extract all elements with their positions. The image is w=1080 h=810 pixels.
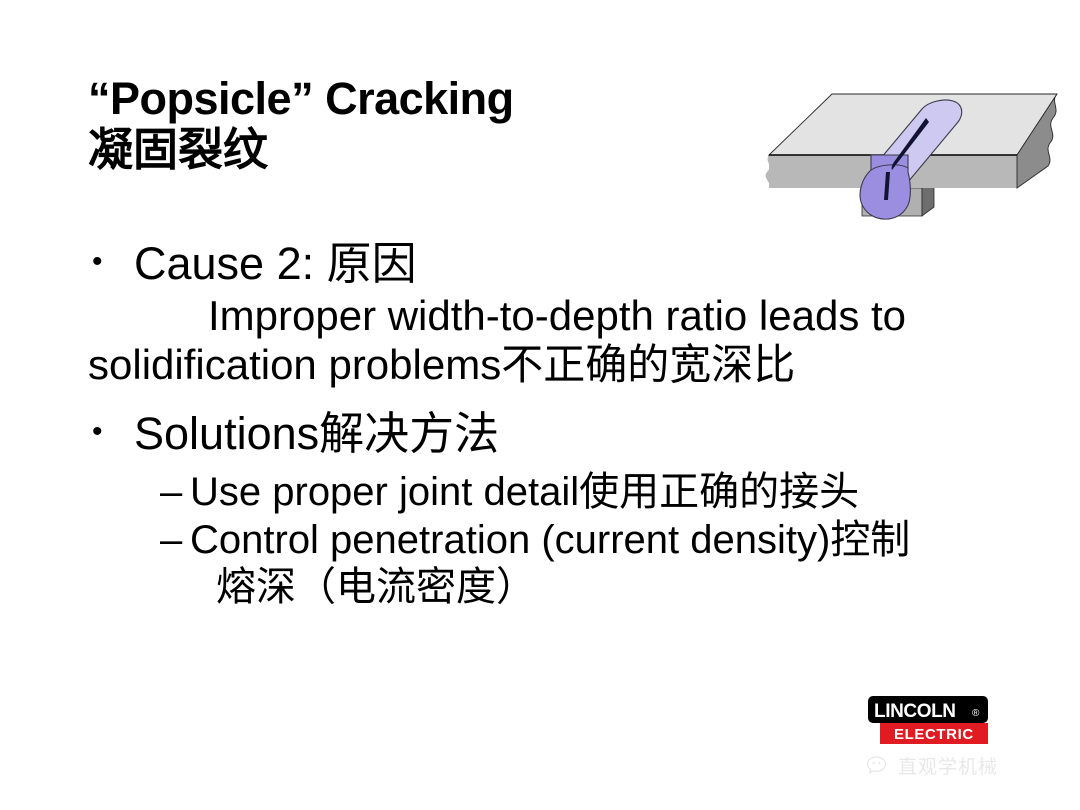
cause-detail-line2-zh: 不正确的宽深比 <box>501 340 795 389</box>
wechat-icon <box>866 755 892 777</box>
sub-bullet-joint-detail: – Use proper joint detail使用正确的接头 <box>160 469 1038 515</box>
sub-bullet-1-zh: 控制 <box>830 517 910 563</box>
title-chinese: 凝固裂纹 <box>88 126 728 175</box>
sub-bullet-control-penetration: – Control penetration (current density)控… <box>160 517 1038 610</box>
sub-bullet-0-zh: 使用正确的接头 <box>579 469 859 515</box>
lincoln-electric-logo: LINCOLN ® ELECTRIC <box>868 696 988 744</box>
bullet-solutions: • Solutions解决方法 <box>88 408 1038 459</box>
wechat-watermark-text: 直观学机械 <box>898 752 998 779</box>
slide-body: • Cause 2: 原因 Improper width-to-depth ra… <box>88 238 1038 610</box>
solutions-sub-list: – Use proper joint detail使用正确的接头 – Contr… <box>160 469 1038 610</box>
weld-cross-section-illustration <box>762 76 1068 226</box>
bullet-dash-icon: – <box>160 517 190 563</box>
slide-title: “Popsicle” Cracking 凝固裂纹 <box>88 76 728 174</box>
bullet-dash-icon: – <box>160 469 190 515</box>
sub-bullet-1-zh-wrap: 熔深（电流密度） <box>216 564 1038 610</box>
sub-bullet-control-penetration-text: Control penetration (current density)控制熔… <box>190 517 1038 610</box>
bullet-dot-icon: • <box>88 408 134 457</box>
plate-left-break-front <box>766 155 776 188</box>
cause-detail-line2-en: solidification problems <box>88 341 501 388</box>
logo-line2: ELECTRIC <box>894 726 974 743</box>
bullet-solutions-label-en: Solutions <box>134 408 319 459</box>
sub-bullet-0-en: Use proper joint detail <box>190 470 579 514</box>
bullet-dot-icon: • <box>88 238 134 287</box>
slide-canvas: “Popsicle” Cracking 凝固裂纹 • Cause 2: 原因 I… <box>0 0 1080 810</box>
logo-line1: LINCOLN <box>874 701 956 722</box>
bullet-cause-label: Cause 2: <box>134 238 327 289</box>
bullet-solutions-label-zh: 解决方法 <box>319 407 499 460</box>
bullet-cause: • Cause 2: 原因 <box>88 238 1038 289</box>
bullet-cause-label-zh: 原因 <box>327 237 417 290</box>
sub-bullet-1-en: Control penetration (current density) <box>190 518 830 562</box>
bullet-solutions-text: Solutions解决方法 <box>134 408 1038 459</box>
logo-registered-mark: ® <box>972 708 980 719</box>
bullet-cause-text: Cause 2: 原因 <box>134 238 1038 289</box>
cause-detail-line2: solidification problems不正确的宽深比 <box>88 340 1038 389</box>
cause-detail-paragraph: Improper width-to-depth ratio leads to s… <box>130 291 1038 389</box>
wechat-watermark: 直观学机械 <box>866 752 998 779</box>
sub-bullet-joint-detail-text: Use proper joint detail使用正确的接头 <box>190 469 1038 515</box>
title-english: “Popsicle” Cracking <box>88 76 728 122</box>
cause-detail-line1: Improper width-to-depth ratio leads to <box>208 292 906 339</box>
